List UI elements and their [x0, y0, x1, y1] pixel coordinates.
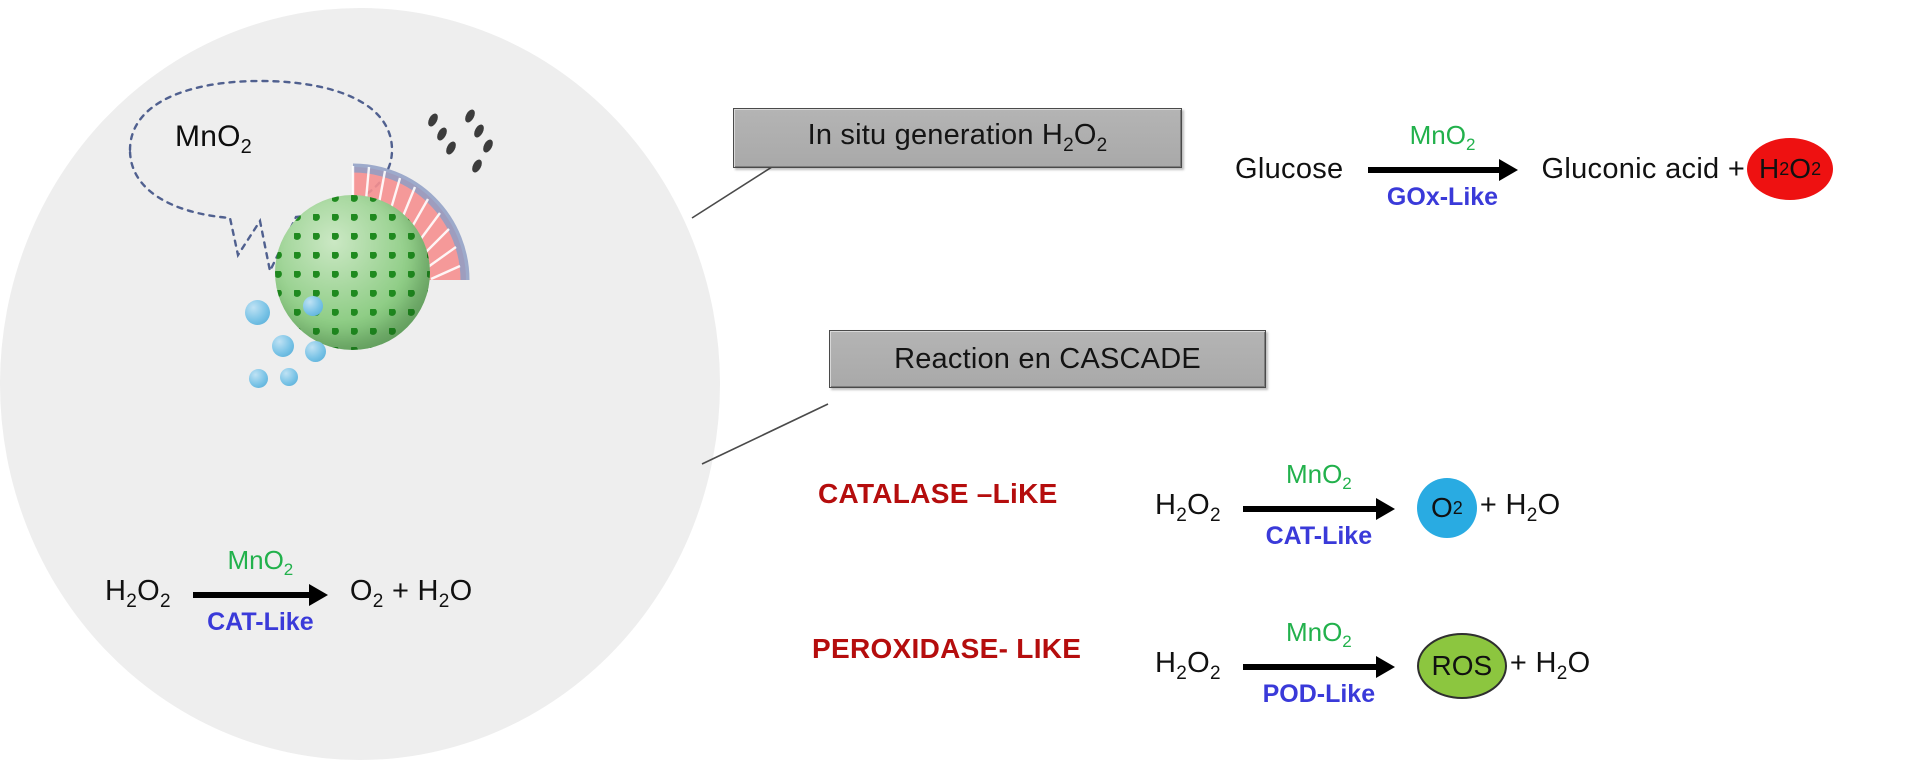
reaction-arrow-group: MnO2 CAT-Like [193, 583, 328, 605]
badge-h2o2: H2O2 [1747, 138, 1833, 200]
reactant-h2o2: H2O2 [105, 575, 171, 613]
leader-line-cascade [700, 380, 830, 470]
molecule-dot-icon [280, 368, 298, 386]
reaction-arrow-group: MnO2 GOx-Like [1368, 158, 1518, 180]
catalyst-label: MnO2 [227, 545, 293, 580]
product-o2-water: O2 + H2O [350, 575, 473, 613]
reaction-row-peroxidase: H2O2 MnO2 POD-Like ROS + H2O [1155, 633, 1590, 699]
enzyme-mimic-label: CAT-Like [207, 608, 314, 637]
catalyst-label: MnO2 [1286, 617, 1352, 652]
reactant-h2o2: H2O2 [1155, 647, 1221, 685]
molecule-dot-icon [272, 335, 294, 357]
nanoparticle-core-icon [275, 195, 430, 350]
arrow-icon [1243, 655, 1395, 677]
caption-reaction-cascade[interactable]: Reaction en CASCADE [829, 330, 1266, 388]
caption-insitu-generation[interactable]: In situ generation H2O2 [733, 108, 1182, 168]
arrow-icon [1368, 158, 1518, 180]
enzyme-category-peroxidase: PEROXIDASE- LIKE [812, 633, 1081, 665]
arrow-icon [1243, 497, 1395, 519]
reaction-cell-catalase: H2O2 MnO2 CAT-Like O2 + H2O [105, 575, 473, 613]
reactant-glucose: Glucose [1235, 153, 1344, 186]
reaction-arrow-group: MnO2 POD-Like [1243, 655, 1395, 677]
caption-insitu-text: In situ generation H2O2 [808, 119, 1108, 157]
figure-canvas: MnO2 [0, 0, 1920, 761]
product-water: + H2O [1510, 647, 1591, 685]
enzyme-mimic-label: CAT-Like [1266, 522, 1373, 551]
reactant-h2o2: H2O2 [1155, 489, 1221, 527]
product-gluconic-acid: Gluconic acid + [1542, 153, 1746, 186]
molecule-dot-icon [305, 341, 326, 362]
callout-label: MnO2 [175, 120, 252, 159]
reaction-arrow-group: MnO2 CAT-Like [1243, 497, 1395, 519]
enzyme-mimic-label: POD-Like [1263, 680, 1376, 709]
catalyst-label: MnO2 [1286, 459, 1352, 494]
badge-o2: O2 [1417, 478, 1477, 538]
molecule-dot-icon [249, 369, 268, 388]
reaction-row-catalase: H2O2 MnO2 CAT-Like O2 + H2O [1155, 478, 1560, 538]
molecule-dot-icon [245, 300, 270, 325]
debris-dashes-icon [415, 108, 515, 208]
enzyme-mimic-label: GOx-Like [1387, 183, 1498, 212]
arrow-icon [193, 583, 328, 605]
badge-ros: ROS [1417, 633, 1507, 699]
caption-cascade-text: Reaction en CASCADE [894, 343, 1201, 376]
catalyst-label: MnO2 [1410, 120, 1476, 155]
enzyme-category-catalase: CATALASE –LiKE [818, 478, 1058, 510]
molecule-dot-icon [303, 296, 323, 316]
reaction-row-gox: Glucose MnO2 GOx-Like Gluconic acid + H2… [1235, 138, 1833, 200]
product-water: + H2O [1480, 489, 1561, 527]
